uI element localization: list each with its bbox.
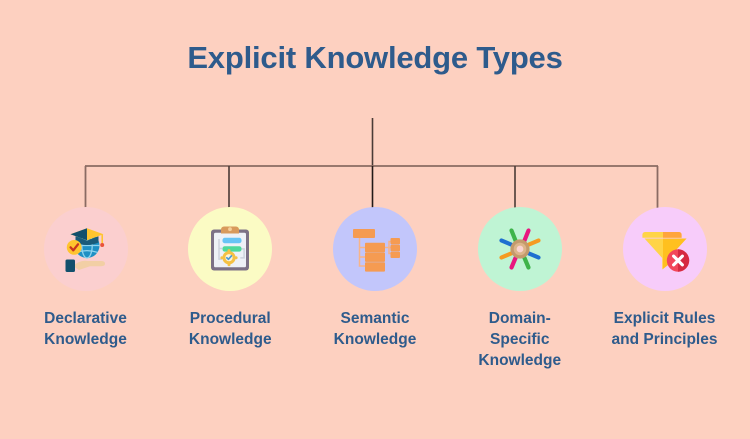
node-explicit-rules-and-principles: Explicit Rules and Principles [593, 207, 736, 350]
page-title: Explicit Knowledge Types [0, 38, 750, 78]
node-label-explicit-rules-and-principles: Explicit Rules and Principles [593, 308, 736, 350]
infographic-canvas: Explicit Knowledge Types [0, 0, 750, 439]
node-domain-specific-knowledge: Domain- Specific Knowledge [448, 207, 591, 371]
node-label-semantic-knowledge: Semantic Knowledge [304, 308, 447, 350]
knowledge-type-list: Declarative Knowledge [0, 207, 750, 407]
node-procedural-knowledge[interactable]: Procedural Knowledge [159, 207, 302, 350]
node-semantic-knowledge: Semantic Knowledge [304, 207, 447, 350]
filter-funnel-remove-icon [638, 222, 692, 276]
graduation-cap-globe-hand-icon [57, 220, 115, 278]
clipboard-checklist-icon [204, 223, 256, 275]
node-label-procedural-knowledge: Procedural Knowledge [159, 308, 302, 350]
hierarchy-tree-icon [348, 222, 402, 276]
node-label-declarative-knowledge: Declarative Knowledge [14, 308, 157, 350]
bubble-semantic-knowledge [333, 207, 417, 291]
bubble-domain-specific-knowledge [478, 207, 562, 291]
bubble-declarative-knowledge [44, 207, 128, 291]
node-label-domain-specific-knowledge: Domain- Specific Knowledge [448, 308, 591, 371]
node-declarative-knowledge[interactable]: Declarative Knowledge [14, 207, 157, 350]
inward-arrows-target-icon [491, 220, 549, 278]
bubble-explicit-rules-and-principles [623, 207, 707, 291]
bubble-procedural-knowledge [188, 207, 272, 291]
